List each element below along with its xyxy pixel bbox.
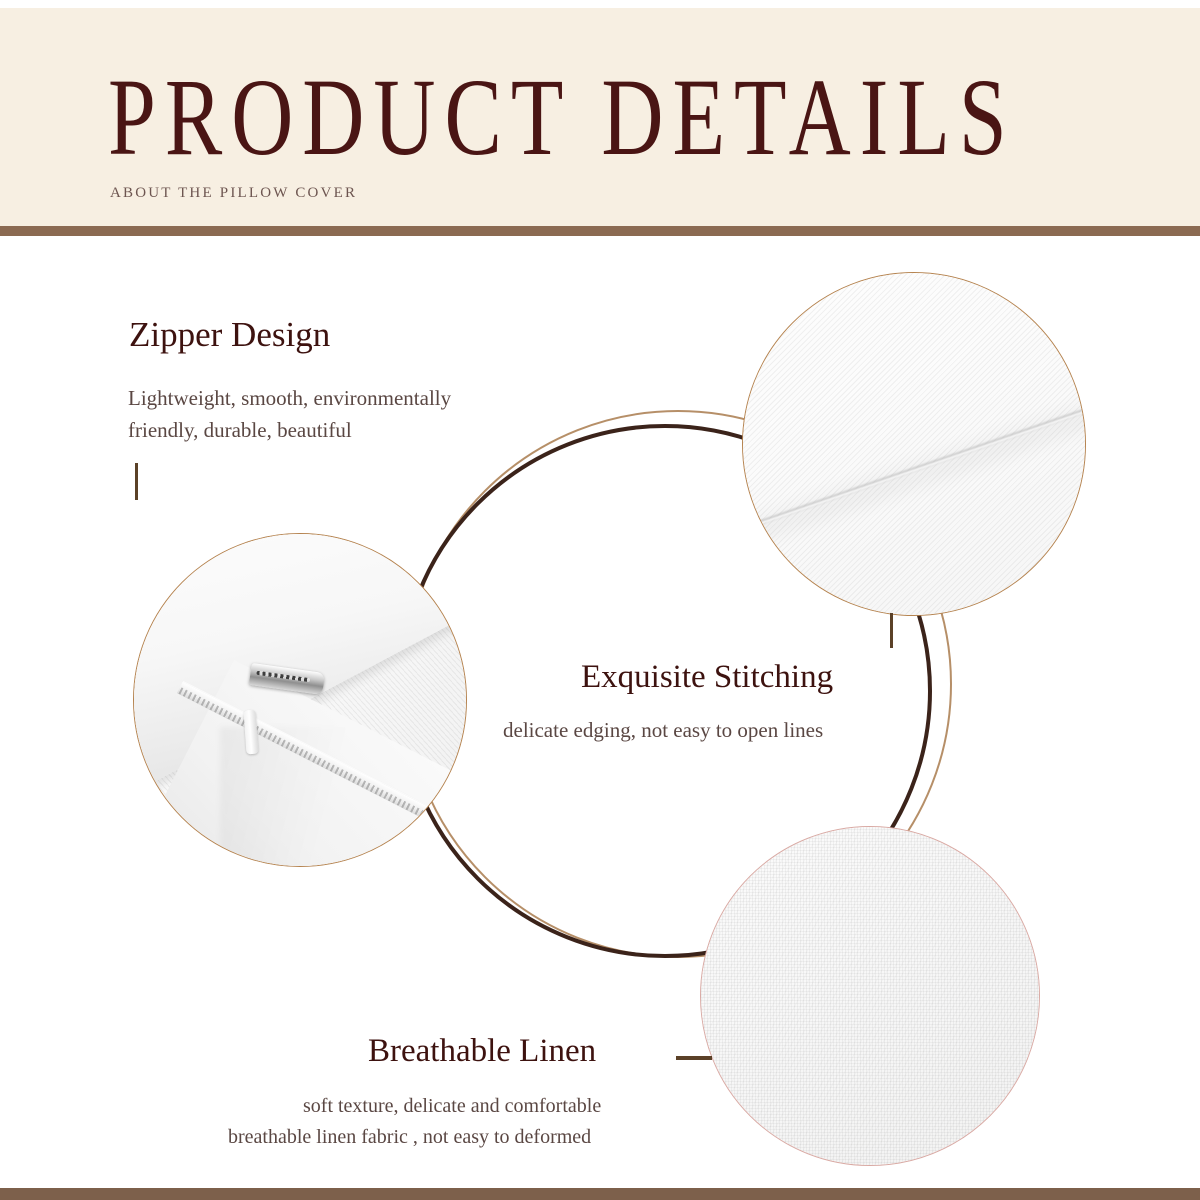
feature-title-breathable-linen: Breathable Linen <box>368 1033 596 1070</box>
feature-title-exquisite-stitching: Exquisite Stitching <box>581 659 833 696</box>
page-subtitle: ABOUT THE PILLOW COVER <box>110 185 357 202</box>
tick-mark-icon <box>890 613 893 648</box>
feature-description-zipper-design: Lightweight, smooth, environmentally fri… <box>128 382 451 446</box>
feature-description-exquisite-stitching: delicate edging, not easy to open lines <box>503 718 823 743</box>
feature-title-zipper-design: Zipper Design <box>129 315 330 355</box>
feature-desc-line: Lightweight, smooth, environmentally <box>128 386 451 410</box>
feature-description-breathable-linen: soft texture, delicate and comfortable b… <box>303 1091 601 1153</box>
feature-desc-line: friendly, durable, beautiful <box>128 418 352 442</box>
footer-divider-rule <box>0 1188 1200 1200</box>
feature-desc-line: breathable linen fabric , not easy to de… <box>228 1122 601 1153</box>
page-title: PRODUCT DETAILS <box>108 62 1016 172</box>
zipper-photo-circle <box>133 533 467 867</box>
linen-weave-texture <box>700 826 1040 1166</box>
header-divider-rule <box>0 226 1200 236</box>
em-dash-connector-icon <box>676 1056 712 1060</box>
linen-photo-circle <box>700 826 1040 1166</box>
feature-desc-line: soft texture, delicate and comfortable <box>303 1095 601 1117</box>
stitching-photo-circle <box>742 272 1086 616</box>
tick-mark-icon <box>135 463 138 500</box>
product-details-page: PRODUCT DETAILS ABOUT THE PILLOW COVER Z… <box>0 0 1200 1200</box>
